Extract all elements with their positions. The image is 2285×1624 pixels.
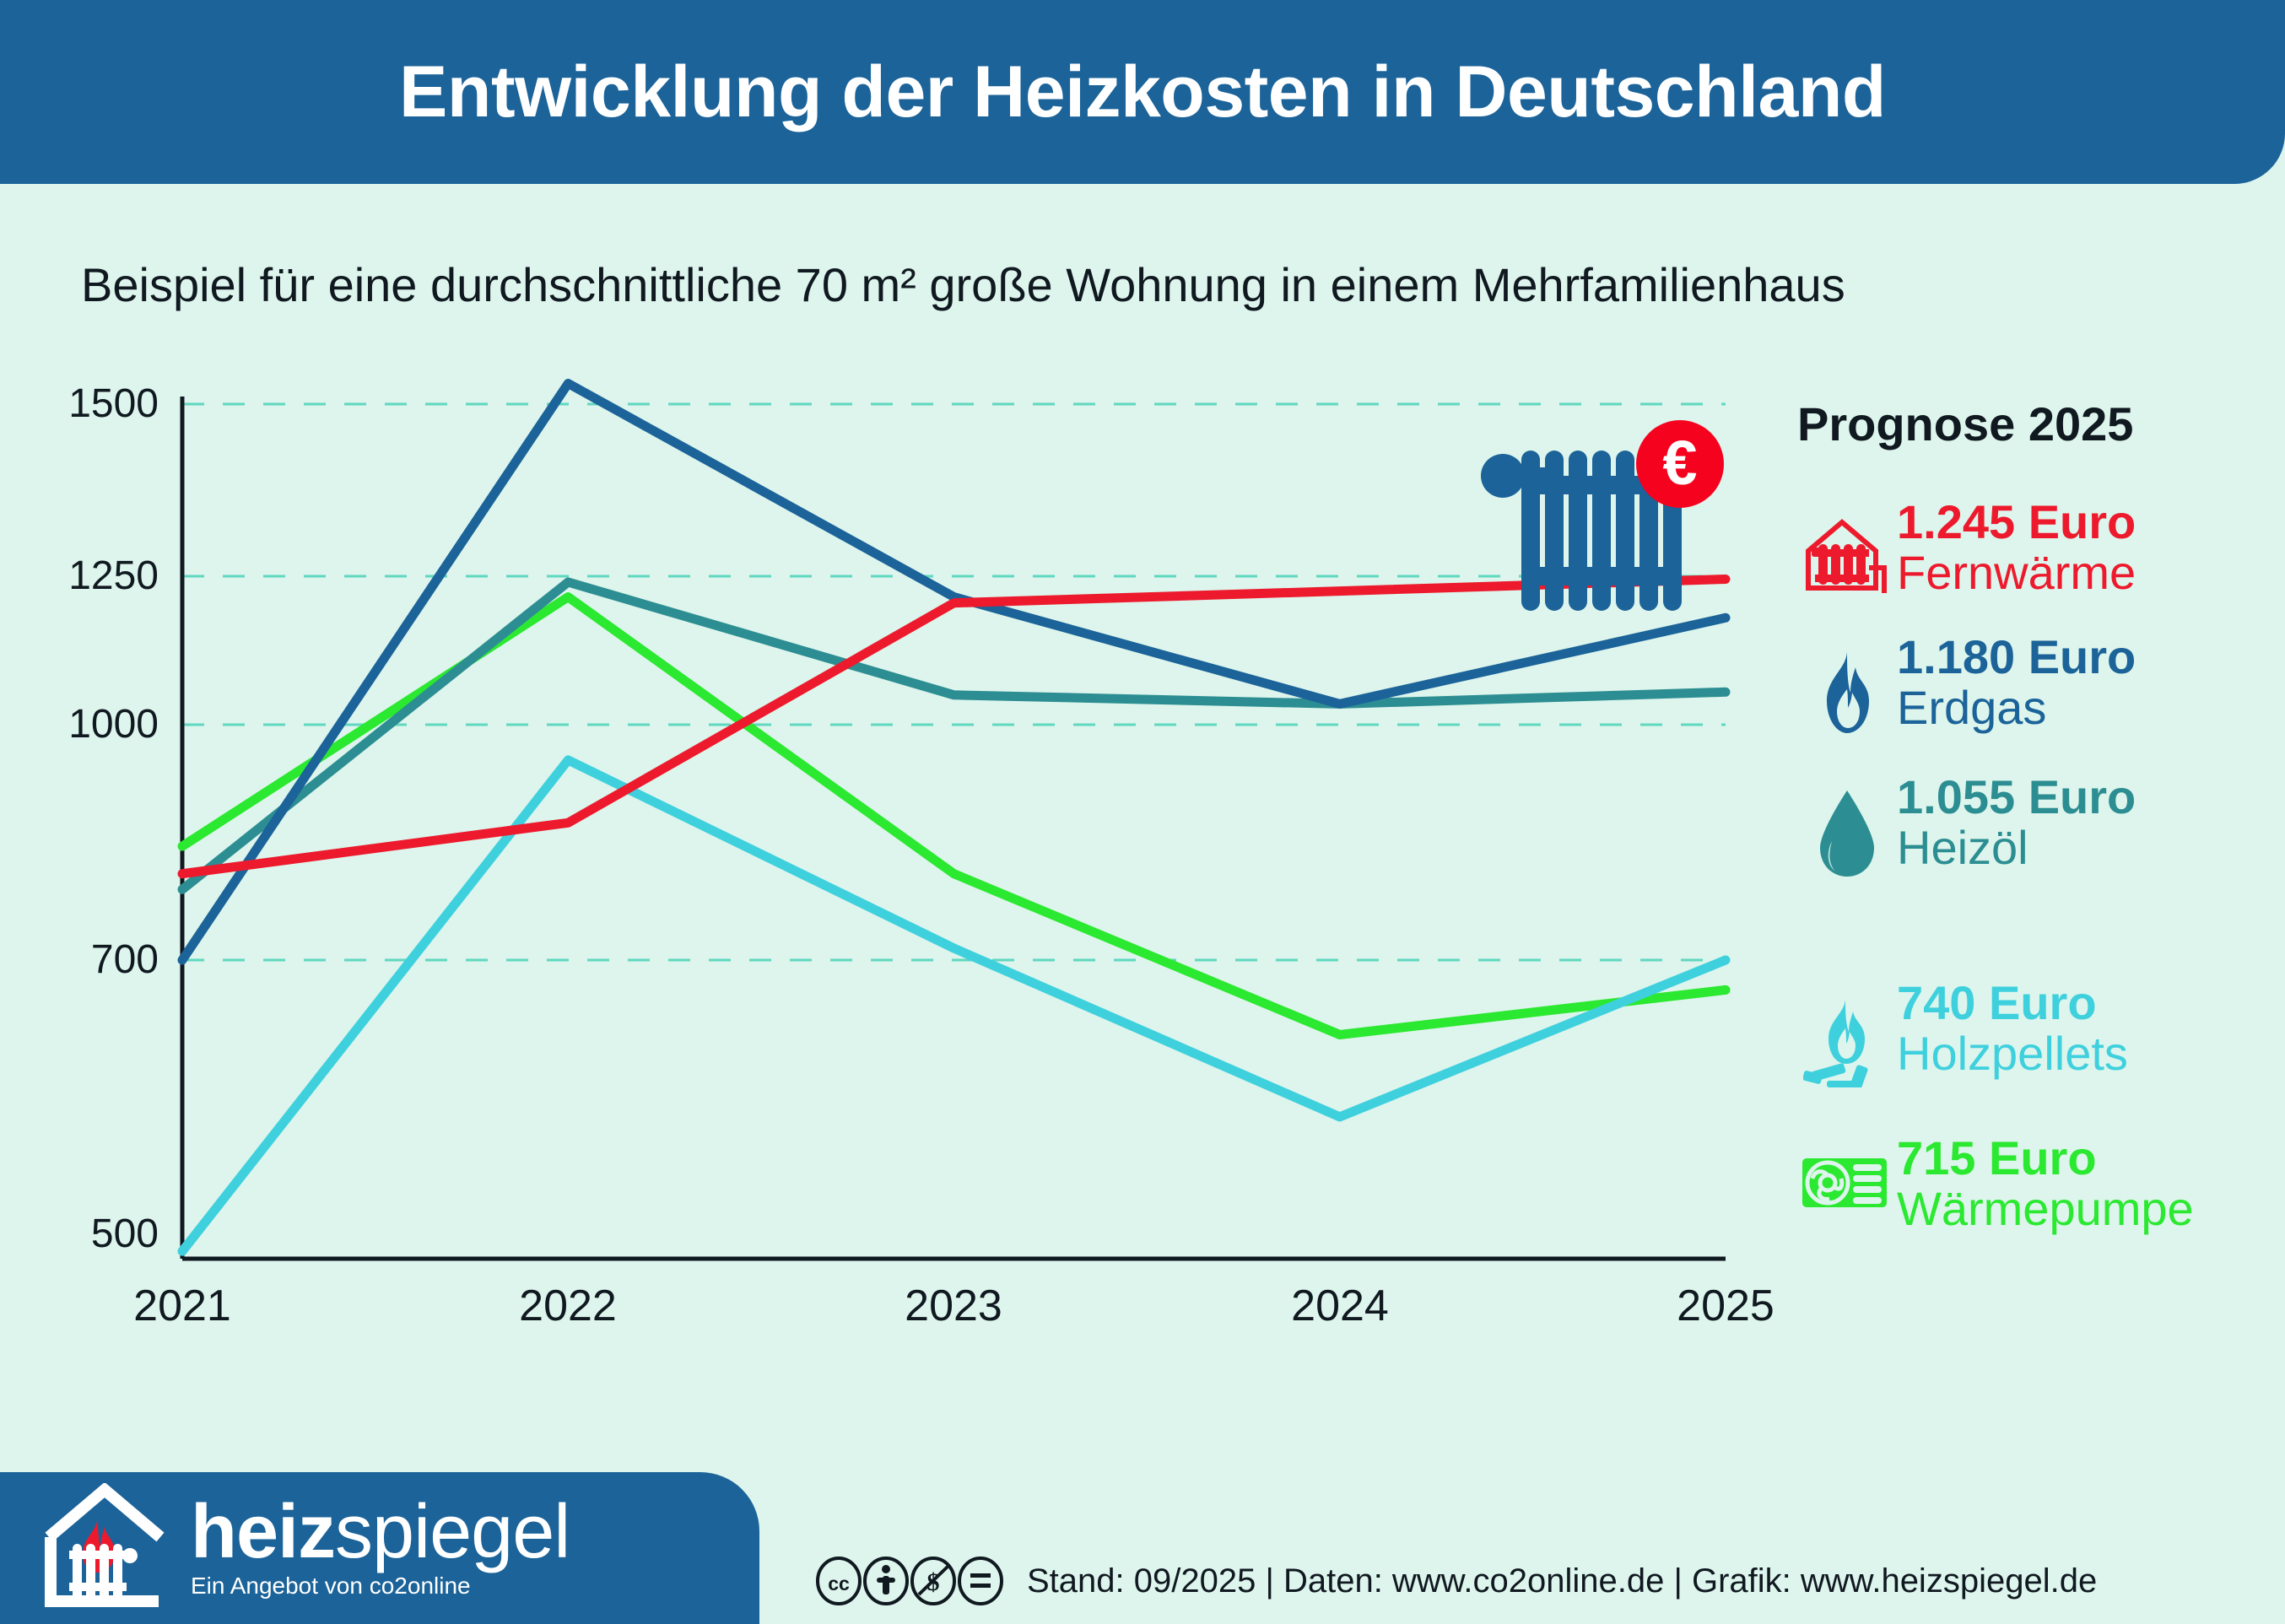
x-tick-label: 2023 bbox=[905, 1281, 1002, 1330]
legend-title: Prognose 2025 bbox=[1797, 397, 2285, 451]
y-tick-label: 1500 bbox=[68, 381, 159, 426]
x-tick-label: 2024 bbox=[1291, 1281, 1389, 1330]
radiator-euro-icon: € bbox=[1481, 413, 1734, 624]
y-tick-label: 1250 bbox=[68, 553, 159, 598]
x-tick-label: 2022 bbox=[519, 1281, 617, 1330]
nd-icon bbox=[970, 1573, 991, 1588]
logo-name-bold: heiz bbox=[191, 1490, 335, 1574]
house-radiator-icon bbox=[1797, 499, 1897, 595]
x-tick-label: 2021 bbox=[133, 1281, 231, 1330]
heat-pump-icon bbox=[1797, 1135, 1897, 1217]
campfire-icon bbox=[1797, 979, 1897, 1087]
legend-item-waermepumpe[interactable]: 715 Euro Wärmepumpe bbox=[1797, 1135, 2285, 1233]
legend-item-holzpellets[interactable]: 740 Euro Holzpellets bbox=[1797, 979, 2285, 1087]
legend-item-erdgas[interactable]: 1.180 Euro Erdgas bbox=[1797, 634, 2285, 736]
flame-icon bbox=[1797, 634, 1897, 736]
chart-subtitle: Beispiel für eine durchschnittliche 70 m… bbox=[81, 257, 1845, 312]
logo-tagline: Ein Angebot von co2online bbox=[191, 1573, 570, 1600]
legend-item-heizoel[interactable]: 1.055 Euro Heizöl bbox=[1797, 774, 2285, 878]
footer-meta: cc $ Stand: 09/2025 | Daten: www.co2onli… bbox=[814, 1557, 2097, 1605]
oil-drop-icon bbox=[1797, 774, 1897, 878]
legend-value: 740 Euro bbox=[1897, 979, 2128, 1027]
x-tick-label: 2025 bbox=[1677, 1281, 1775, 1330]
nc-icon: $ bbox=[919, 1567, 948, 1596]
y-tick-label: 700 bbox=[91, 937, 159, 982]
legend-label: Fernwärme bbox=[1897, 549, 2136, 596]
heizspiegel-logo-block: heizspiegel Ein Angebot von co2online bbox=[0, 1472, 759, 1624]
legend-value: 1.055 Euro bbox=[1897, 774, 2136, 821]
legend-label: Wärmepumpe bbox=[1897, 1185, 2194, 1233]
logo-wordmark: heizspiegel bbox=[191, 1497, 570, 1569]
cc-icon: cc bbox=[828, 1573, 850, 1594]
header-bar: Entwicklung der Heizkosten in Deutschlan… bbox=[0, 0, 2285, 184]
house-flame-radiator-logo-icon bbox=[41, 1483, 169, 1614]
legend-panel: Prognose 2025 1.245 Euro Fernwärme bbox=[1797, 397, 2285, 1258]
legend-value: 1.245 Euro bbox=[1897, 499, 2136, 546]
series-line-holzpellets bbox=[182, 760, 1726, 1251]
legend-label: Heizöl bbox=[1897, 824, 2136, 871]
legend-label: Erdgas bbox=[1897, 684, 2136, 731]
series-line-wrmepumpe bbox=[182, 597, 1726, 1035]
y-tick-label: 1000 bbox=[68, 702, 159, 747]
footer-credit: Stand: 09/2025 | Daten: www.co2online.de… bbox=[1027, 1562, 2097, 1600]
logo-name-light: spiegel bbox=[335, 1490, 570, 1574]
by-icon bbox=[877, 1565, 895, 1594]
legend-item-fernwaerme[interactable]: 1.245 Euro Fernwärme bbox=[1797, 499, 2285, 596]
legend-label: Holzpellets bbox=[1897, 1030, 2128, 1077]
legend-value: 1.180 Euro bbox=[1897, 634, 2136, 681]
y-tick-label: 500 bbox=[91, 1211, 159, 1256]
legend-value: 715 Euro bbox=[1897, 1135, 2194, 1182]
creative-commons-badges: cc $ bbox=[814, 1557, 1008, 1605]
page-title: Entwicklung der Heizkosten in Deutschlan… bbox=[399, 51, 1886, 134]
euro-symbol: € bbox=[1662, 428, 1697, 498]
